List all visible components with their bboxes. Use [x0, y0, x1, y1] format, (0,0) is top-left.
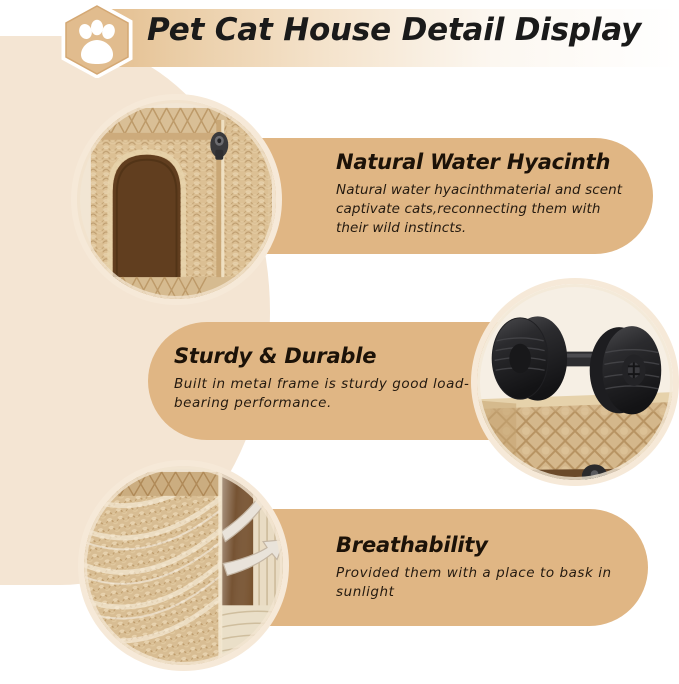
poster-header: Pet Cat House Detail Display: [0, 0, 679, 80]
page-title: Pet Cat House Detail Display: [147, 12, 641, 48]
feature-body-3: Provided them with a place to bask in su…: [336, 564, 626, 602]
feature-photo-3: [84, 466, 283, 665]
feature-text-3: Breathability Provided them with a place…: [336, 533, 626, 602]
feature-text-2: Sturdy & Durable Built in metal frame is…: [174, 344, 474, 413]
feature-title-2: Sturdy & Durable: [174, 344, 474, 368]
feature-photo-2: [477, 284, 673, 480]
feature-body-1: Natural water hyacinthmaterial and scent…: [336, 181, 636, 238]
feature-title-3: Breathability: [336, 533, 626, 557]
pet-cat-house-detail-poster: Pet Cat House Detail Display: [0, 0, 679, 684]
feature-text-1: Natural Water Hyacinth Natural water hya…: [336, 150, 636, 238]
feature-photo-1: [77, 100, 276, 299]
paw-print-icon: [60, 2, 134, 78]
feature-body-2: Built in metal frame is sturdy good load…: [174, 375, 474, 413]
feature-title-1: Natural Water Hyacinth: [336, 150, 636, 174]
